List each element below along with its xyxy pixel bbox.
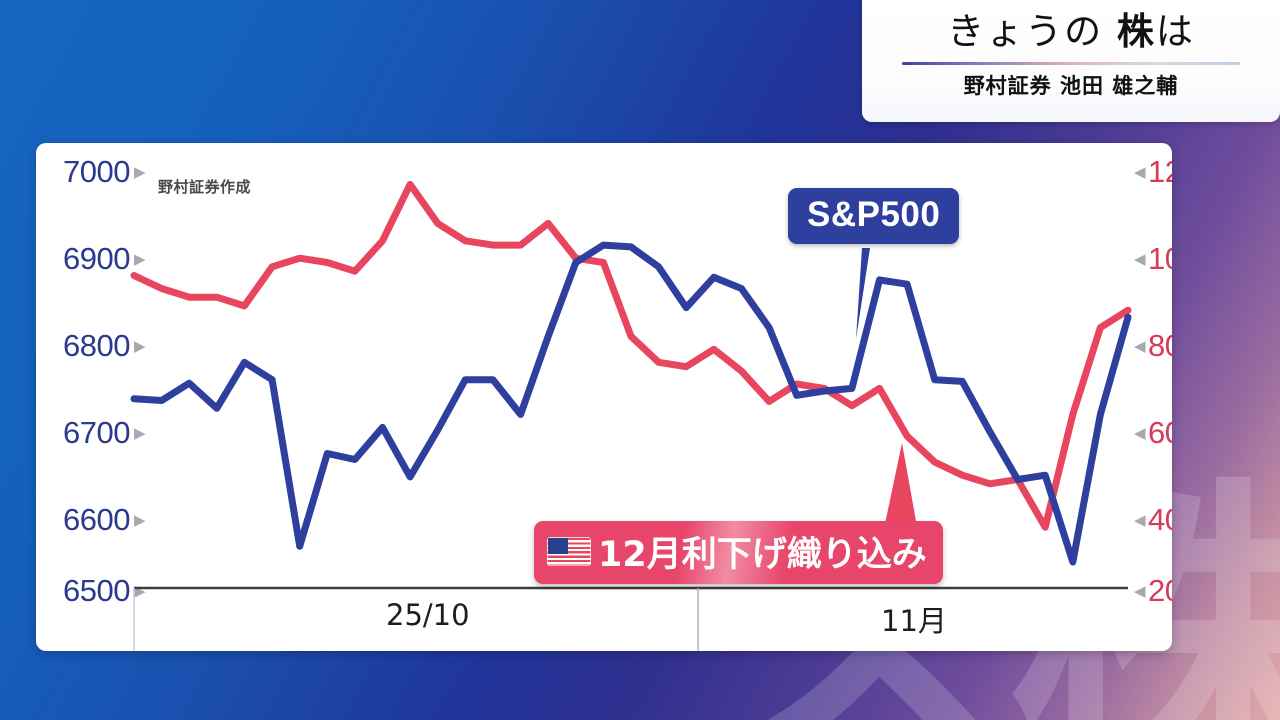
title-divider [902,62,1240,65]
page-title-bold: 株 [1117,10,1156,53]
page-title-part1: きょうの [947,10,1117,53]
x-axis-label-november: 11月 [881,598,947,640]
series-line-rate-cut [134,184,1128,527]
callout-rate-cut-text: 12月利下げ織り込み [598,526,927,577]
chart-card: 野村証券作成 7000▶ 6900▶ 6800▶ 6700▶ 6600▶ 650… [36,143,1172,651]
x-axis-label-text: 25/10 [386,598,470,632]
series-line-sp500 [134,245,1128,562]
title-panel: きょうの 株は 野村証券 池田 雄之輔 [862,0,1280,122]
callout-sp500: S&P500 [788,188,959,244]
callout-rate-cut: 12月利下げ織り込み [534,521,943,584]
page-title-part2: は [1156,10,1195,53]
us-flag-icon [547,537,591,566]
title-subtitle: 野村証券 池田 雄之輔 [964,70,1179,100]
x-axis-label-october: 25/10 [386,598,470,632]
page-title: きょうの 株は [947,9,1195,55]
x-axis-label-text: 11月 [881,604,947,638]
